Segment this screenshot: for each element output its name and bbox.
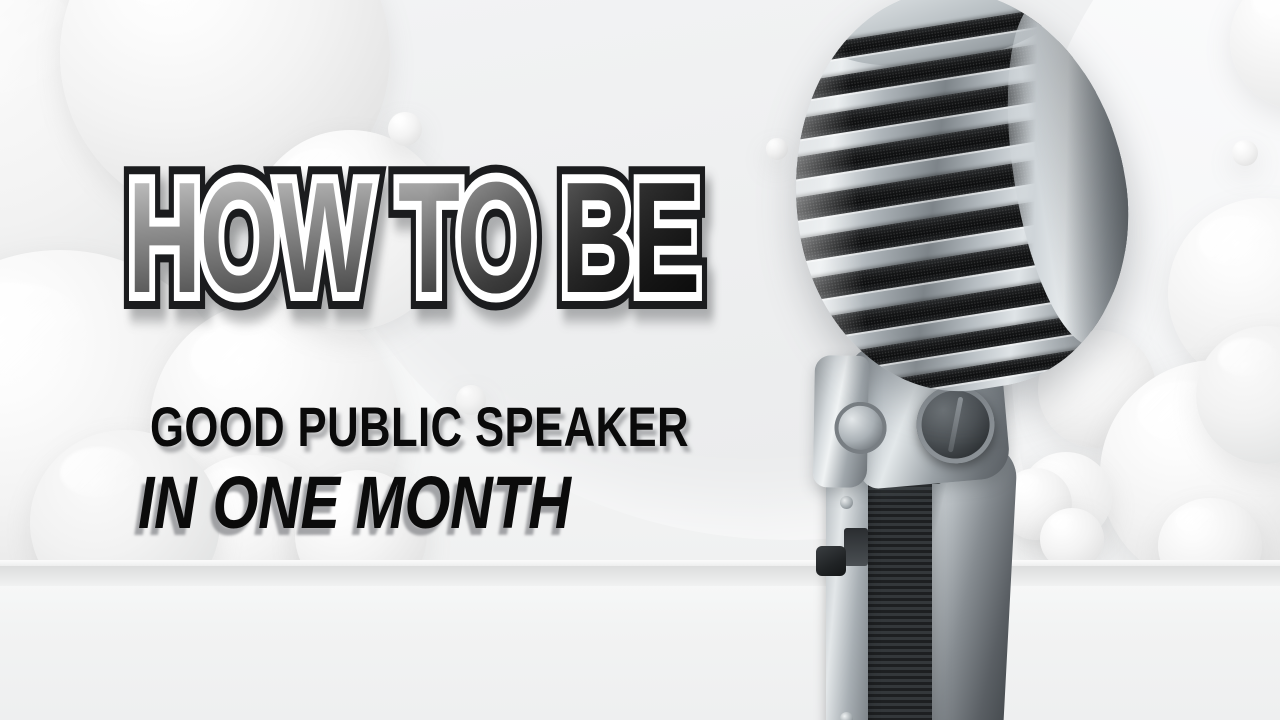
- headline-block: HOW TO BE HOW TO BE HOW TO BE HOW TO BE …: [0, 0, 720, 720]
- thumbnail-canvas: HOW TO BE HOW TO BE HOW TO BE HOW TO BE …: [0, 0, 1280, 720]
- stand-screw: [840, 712, 853, 720]
- stand-slot: [844, 528, 868, 566]
- vintage-microphone-icon: [700, 0, 1220, 720]
- subheadline: GOOD PUBLIC SPEAKER: [150, 394, 689, 459]
- microphone-head: [766, 0, 1155, 413]
- background-sphere-small: [1232, 140, 1258, 166]
- stand-side-plate: [826, 476, 868, 720]
- tagline: IN ONE MONTH: [138, 460, 571, 545]
- stand-lever: [816, 546, 846, 576]
- title-shade-overlay: HOW TO BE: [128, 166, 699, 311]
